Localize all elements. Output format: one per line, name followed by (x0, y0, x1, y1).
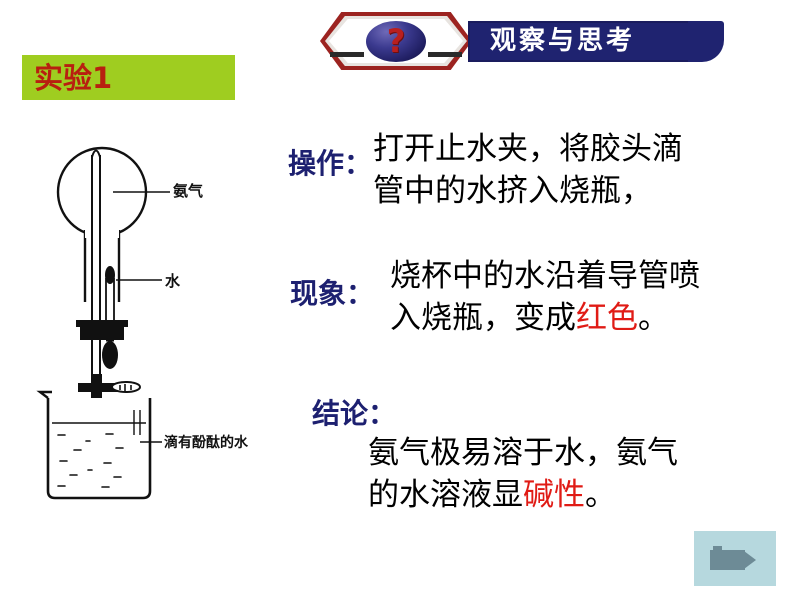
phenomenon-highlight: 红色 (576, 300, 638, 336)
operation-line-1: 打开止水夹，将胶头滴 (373, 128, 793, 170)
operation-label: 操作： (288, 142, 372, 182)
question-mark-glyph: ? (366, 21, 426, 62)
phenomenon-line-2: 入烧瓶，变成红色。 (390, 297, 794, 339)
operation-text: 打开止水夹，将胶头滴 管中的水挤入烧瓶， (373, 128, 793, 212)
video-camera-body (710, 550, 745, 570)
question-mark-sphere-icon: ? (366, 21, 426, 62)
play-video-button[interactable] (694, 531, 776, 586)
header-banner: ? 观察与思考 (320, 10, 720, 72)
diagram-label-water: 水 (165, 270, 180, 291)
hexagon-bar-left (330, 52, 364, 57)
experiment-title: 实验1 (34, 59, 112, 97)
experiment-title-box: 实验1 (22, 55, 235, 100)
phenomenon-line-2-post: 。 (638, 300, 669, 336)
hexagon-bar-right (428, 52, 462, 57)
video-camera-icon[interactable] (708, 545, 762, 573)
phenomenon-text: 烧杯中的水沿着导管喷 入烧瓶，变成红色。 (390, 255, 794, 339)
conclusion-line-2-pre: 的水溶液显 (368, 477, 523, 513)
slide-canvas: ? 观察与思考 实验1 (0, 0, 794, 596)
conclusion-highlight: 碱性 (523, 477, 585, 513)
conclusion-label: 结论： (312, 392, 396, 432)
conclusion-text: 氨气极易溶于水，氨气 的水溶液显碱性。 (368, 432, 794, 516)
phenomenon-line-1: 烧杯中的水沿着导管喷 (390, 255, 794, 297)
video-camera-lens (744, 551, 756, 569)
apparatus-diagram: 氨气 水 滴有酚酞的水 (30, 130, 290, 515)
diagram-label-phenolphthalein-water: 滴有酚酞的水 (164, 432, 248, 452)
banner-title: 观察与思考 (490, 24, 700, 59)
question-badge: ? (320, 12, 472, 70)
apparatus-svg (30, 130, 290, 515)
operation-line-2: 管中的水挤入烧瓶， (373, 170, 793, 212)
diagram-label-ammonia: 氨气 (173, 180, 203, 201)
conclusion-line-2-post: 。 (585, 477, 616, 513)
conclusion-line-1: 氨气极易溶于水，氨气 (368, 432, 794, 474)
conclusion-line-2: 的水溶液显碱性。 (368, 474, 794, 516)
phenomenon-line-2-pre: 入烧瓶，变成 (390, 300, 576, 336)
phenomenon-label: 现象： (290, 272, 374, 312)
